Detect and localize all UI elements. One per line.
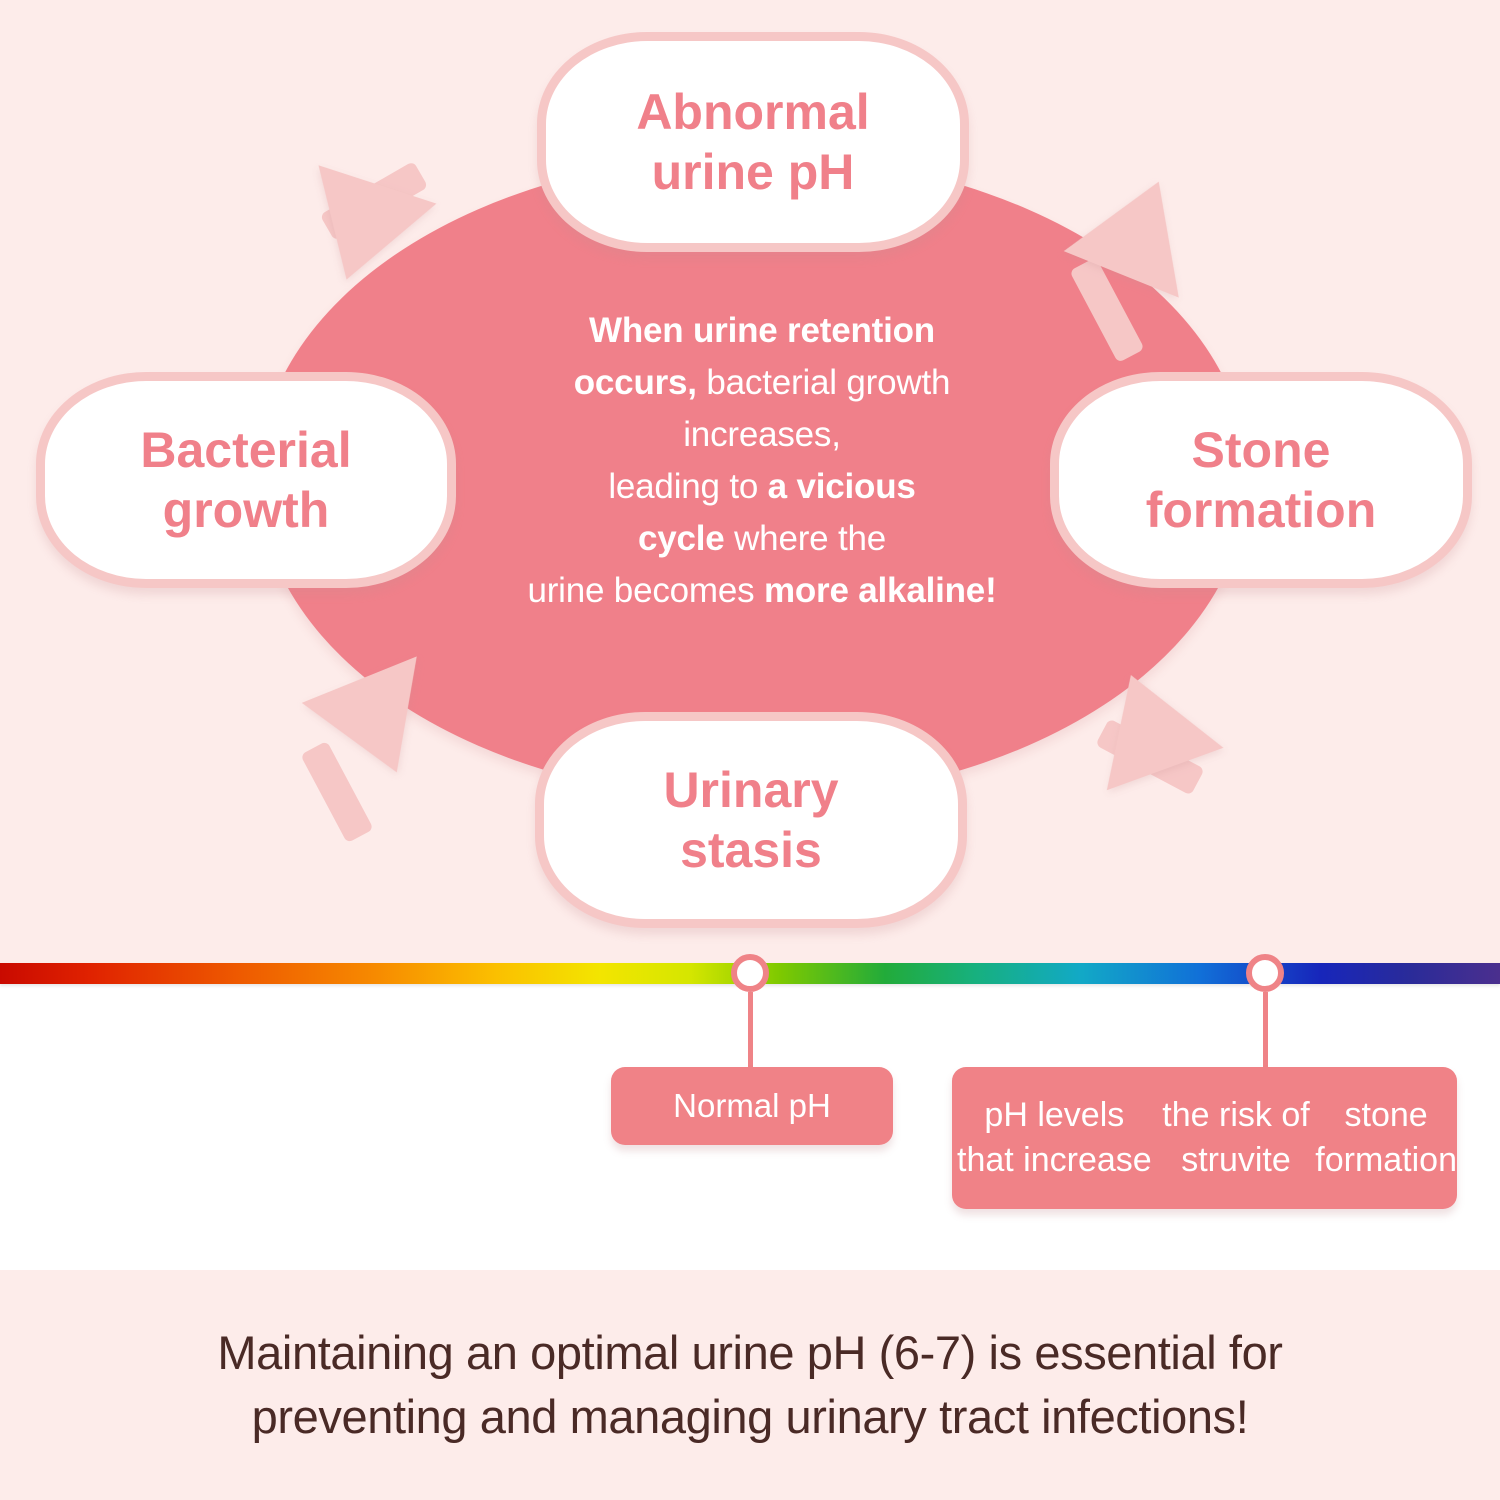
ph-connector-normal	[748, 992, 753, 1067]
cycle-center-description: When urine retention occurs, bacterial g…	[452, 305, 1072, 617]
cycle-node-label-right: Stone formation	[1146, 420, 1377, 540]
bottom-banner-text: Maintaining an optimal urine pH (6-7) is…	[50, 1321, 1450, 1449]
center-text-line3: increases,	[683, 415, 841, 454]
ph-callout-risk-line3: stone formation	[1315, 1093, 1457, 1183]
center-text-line5-bold: cycle	[638, 519, 725, 558]
center-text-line5-regular: where the	[725, 519, 886, 558]
ph-callout-risk-line2: the risk of struvite	[1157, 1093, 1316, 1183]
bottom-banner-line1: Maintaining an optimal urine pH (6-7) is…	[217, 1326, 1282, 1379]
cycle-node-urinary-stasis[interactable]: Urinary stasis	[535, 712, 967, 928]
ph-marker-struvite-risk[interactable]	[1246, 954, 1284, 992]
cycle-node-label-top: Abnormal urine pH	[636, 82, 869, 202]
ph-connector-struvite-risk	[1263, 992, 1268, 1067]
cycle-node-abnormal-urine-ph[interactable]: Abnormal urine pH	[537, 32, 969, 252]
cycle-node-bacterial-growth[interactable]: Bacterial growth	[36, 372, 456, 588]
center-text-line2-regular: bacterial growth	[697, 363, 950, 402]
center-text-line6-bold: more alkaline!	[764, 571, 997, 610]
cycle-node-label-bottom: Urinary stasis	[663, 760, 838, 880]
bottom-banner-line2: preventing and managing urinary tract in…	[252, 1390, 1249, 1443]
cycle-node-stone-formation[interactable]: Stone formation	[1050, 372, 1472, 588]
ph-callout-normal[interactable]: Normal pH	[611, 1067, 893, 1145]
ph-scale-section: Normal pH pH levels that increase the ri…	[0, 963, 1500, 1270]
cycle-node-label-left: Bacterial growth	[140, 420, 351, 540]
center-text-line2-bold: occurs,	[574, 363, 697, 402]
center-text-line6-regular: urine becomes	[527, 571, 764, 610]
ph-callout-normal-label: Normal pH	[673, 1086, 831, 1126]
center-text-line1: When urine retention	[589, 311, 935, 350]
ph-callout-struvite-risk[interactable]: pH levels that increase the risk of stru…	[952, 1067, 1457, 1209]
infographic-page: When urine retention occurs, bacterial g…	[0, 0, 1500, 1500]
center-text-line4-bold: a vicious	[768, 467, 916, 506]
center-text-line4-regular: leading to	[608, 467, 767, 506]
cycle-diagram-panel: When urine retention occurs, bacterial g…	[0, 0, 1500, 963]
ph-marker-normal[interactable]	[731, 954, 769, 992]
ph-callout-risk-line1: pH levels that increase	[952, 1093, 1157, 1183]
bottom-banner: Maintaining an optimal urine pH (6-7) is…	[0, 1270, 1500, 1500]
